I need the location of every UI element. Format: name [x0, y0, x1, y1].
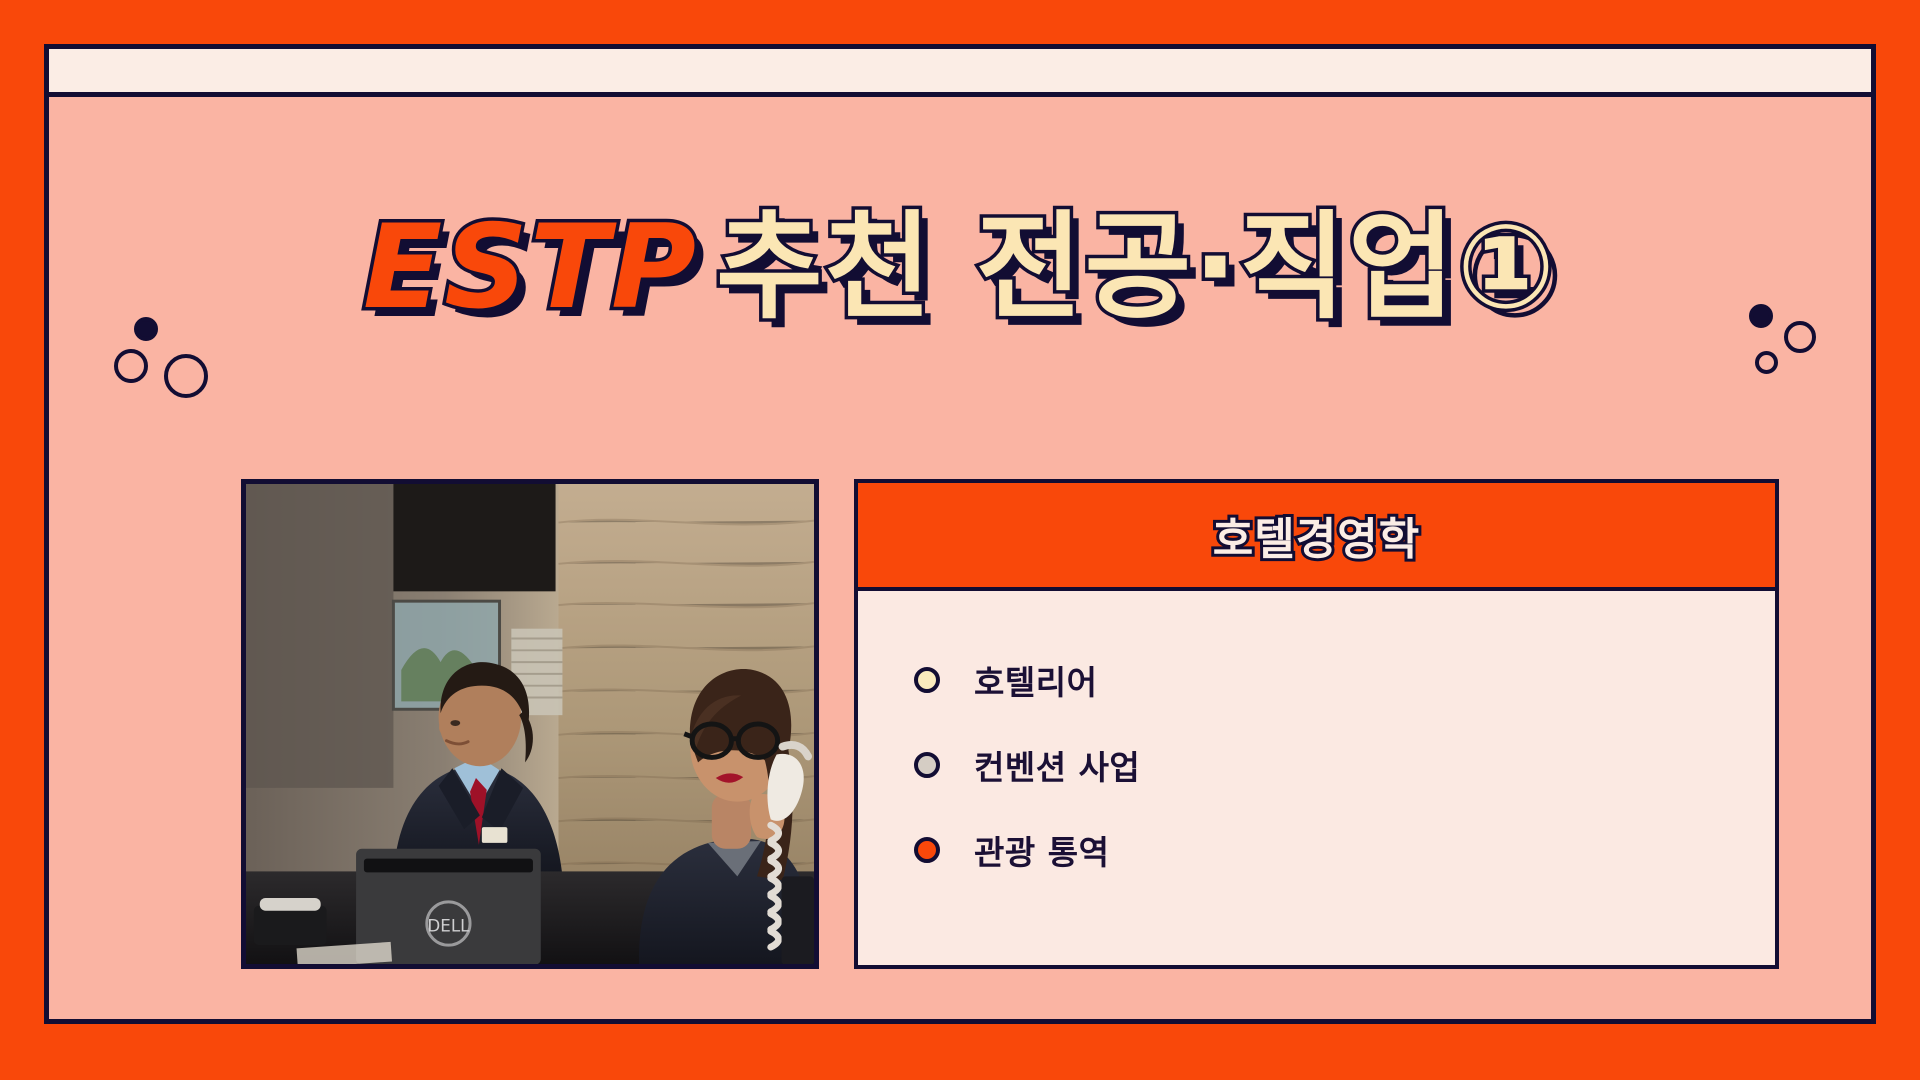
decor-bubble-left-3 — [164, 354, 208, 398]
decor-bubble-left-1 — [134, 317, 158, 341]
frame-top-strip — [49, 49, 1871, 97]
card-body: 호텔리어 컨벤션 사업 관광 통역 — [858, 591, 1775, 892]
decor-bubble-right-2 — [1784, 321, 1816, 353]
page-title: ESTP추천 전공·직업① — [49, 204, 1871, 332]
slide-canvas: ESTP추천 전공·직업① — [0, 0, 1920, 1080]
list-item[interactable]: 호텔리어 — [914, 637, 1775, 722]
photo-illustration: DELL — [246, 484, 814, 964]
bullet-dot-icon — [914, 667, 940, 693]
list-item-label: 호텔리어 — [974, 656, 1097, 704]
title-korean: 추천 전공·직업① — [716, 200, 1557, 335]
title-english: ESTP — [363, 200, 698, 335]
card-header: 호텔경영학 — [858, 483, 1775, 591]
slide-frame: ESTP추천 전공·직업① — [44, 44, 1876, 1024]
card-header-title: 호텔경영학 — [1213, 503, 1420, 567]
decor-bubble-right-1 — [1749, 304, 1773, 328]
decor-bubble-left-2 — [114, 349, 148, 383]
decor-bubble-right-3 — [1755, 351, 1778, 374]
svg-text:DELL: DELL — [427, 915, 470, 935]
list-item-label: 관광 통역 — [974, 826, 1109, 874]
major-info-card: 호텔경영학 호텔리어 컨벤션 사업 관광 통역 — [854, 479, 1779, 969]
list-item[interactable]: 관광 통역 — [914, 807, 1775, 892]
bullet-dot-icon — [914, 752, 940, 778]
bullet-dot-icon — [914, 837, 940, 863]
list-item[interactable]: 컨벤션 사업 — [914, 722, 1775, 807]
hotel-reception-photo: DELL — [241, 479, 819, 969]
list-item-label: 컨벤션 사업 — [974, 741, 1140, 789]
